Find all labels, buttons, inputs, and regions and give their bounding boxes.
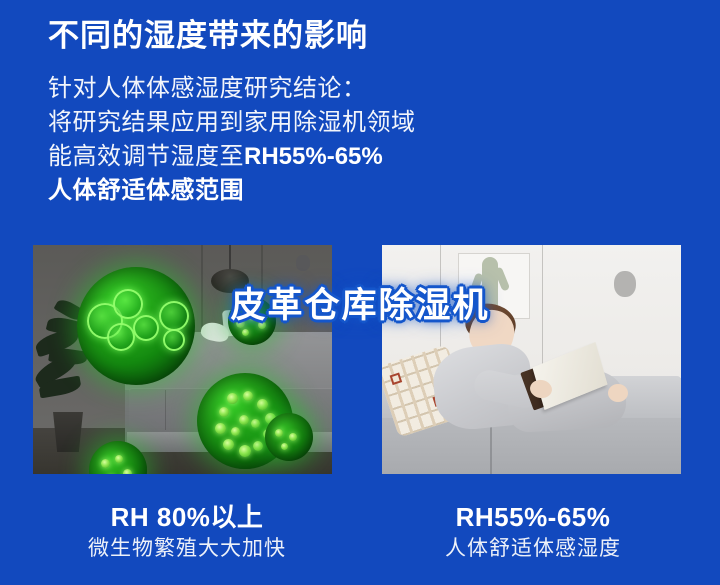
microbe-blob (223, 439, 234, 450)
header-block: 不同的湿度带来的影响 针对人体体感湿度研究结论： 将研究结果应用到家用除湿机领域… (48, 14, 688, 208)
right-person-foot (608, 384, 628, 402)
microbe-blob (242, 329, 249, 336)
caption-left-sub: 微生物繁殖大大加快 (22, 534, 352, 564)
microbe-cell (163, 329, 185, 351)
microbe-blob (257, 399, 268, 410)
intro-line-1: 针对人体体感湿度研究结论： (48, 72, 688, 106)
caption-left: RH 80%以上 微生物繁殖大大加快 (22, 500, 352, 564)
humidity-infographic-page: { "theme": { "background_blue": "#1249BE… (0, 0, 720, 585)
intro-line-3-emphasis: RH55%-65% (244, 143, 383, 170)
microbe-blob (289, 433, 297, 441)
microbe-blob (227, 393, 238, 404)
right-person (430, 332, 620, 444)
microbe-blob (275, 429, 283, 437)
microbe-blob (123, 469, 132, 474)
microbe-blob (215, 423, 226, 434)
microbe-blob (281, 443, 288, 450)
overlay-headline: 皮革仓库除湿机 (0, 277, 720, 328)
microbe-blob (219, 407, 229, 417)
microbe-sphere-small (265, 413, 313, 461)
microbe-blob (243, 391, 253, 401)
intro-line-3-text: 能高效调节湿度至 (48, 143, 244, 170)
caption-left-main: RH 80%以上 (22, 500, 352, 534)
captions-row: RH 80%以上 微生物繁殖大大加快 RH55%-65% 人体舒适体感湿度 (0, 500, 720, 585)
caption-right-main: RH55%-65% (368, 500, 698, 534)
microbe-blob (239, 415, 249, 425)
caption-right: RH55%-65% 人体舒适体感湿度 (368, 500, 698, 564)
microbe-blob (231, 427, 240, 436)
microbe-blob (239, 445, 251, 457)
left-sofa-seam (165, 390, 166, 430)
intro-paragraph: 针对人体体感湿度研究结论： 将研究结果应用到家用除湿机领域 能高效调节湿度至RH… (48, 72, 688, 208)
left-wall-knob (296, 255, 310, 271)
microbe-blob (251, 419, 260, 428)
microbe-blob (115, 455, 123, 463)
page-title: 不同的湿度带来的影响 (48, 14, 688, 58)
microbe-blob (101, 459, 110, 468)
intro-line-2: 将研究结果应用到家用除湿机领域 (48, 106, 688, 140)
intro-line-3: 能高效调节湿度至RH55%-65% (48, 140, 688, 174)
microbe-blob (253, 441, 263, 451)
intro-line-4: 人体舒适体感范围 (48, 174, 688, 208)
caption-right-sub: 人体舒适体感湿度 (368, 534, 698, 564)
